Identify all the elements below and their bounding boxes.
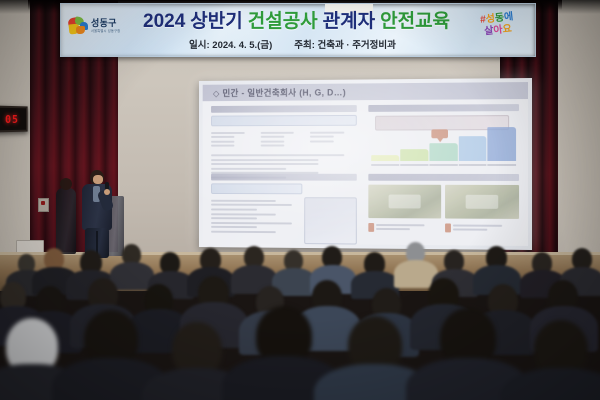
wall-outlet-plate	[38, 198, 49, 212]
chart-band-2	[429, 143, 457, 161]
chart-tick-4	[488, 164, 516, 166]
banner-host: 주최: 건축과 · 주거정비과	[294, 37, 396, 51]
chart-x-axis-ticks	[372, 162, 516, 169]
slide-body	[211, 104, 519, 239]
panel-highlight-box	[211, 115, 356, 126]
panel-column	[260, 129, 306, 150]
slide-photo-row	[369, 185, 519, 219]
hashtag-ch-6: 요	[502, 23, 512, 35]
slide-panel-bottom-left	[211, 174, 356, 245]
slide-title: ◇ 민간 - 일반건축회사 (H, G, D…)	[203, 82, 528, 101]
wall-led-clock: 05	[0, 106, 28, 133]
banner-hashtag: #성동에 살아요	[465, 10, 530, 50]
panel-header-icon	[369, 104, 519, 112]
site-photo-1	[369, 185, 442, 219]
chart-band-3	[458, 136, 486, 161]
panel-header-icon	[211, 105, 356, 113]
chart-tick-3	[458, 164, 486, 166]
photo-caption-1	[369, 221, 442, 233]
panel-column	[211, 129, 256, 149]
chart-band-1	[400, 150, 428, 161]
hashtag-ch-3: 에	[504, 11, 514, 23]
screen-surface: ◇ 민간 - 일반건축회사 (H, G, D…)	[199, 78, 532, 250]
led-clock-digits: 05	[5, 112, 19, 125]
banner-title-part-3: 관계자	[323, 12, 375, 31]
caption-marker-icon	[369, 223, 375, 232]
seminar-photo-scene: 05 성동구 서울특별시 성동구청 2024 상반기 건설공사 관계자 안전교육…	[0, 0, 600, 400]
audience	[0, 236, 600, 400]
presenter-hand	[104, 189, 110, 195]
event-banner: 성동구 서울특별시 성동구청 2024 상반기 건설공사 관계자 안전교육 일시…	[60, 3, 536, 57]
photo-caption-2	[445, 222, 519, 234]
banner-title-part-0: 2024	[143, 12, 185, 31]
slide-panel-top-left	[211, 105, 356, 181]
panel-header-icon	[211, 174, 356, 181]
banner-title-part-1: 상반기	[190, 12, 242, 31]
slide-chart	[369, 115, 519, 169]
chart-tick-2	[429, 164, 457, 166]
logo-name: 성동구	[91, 19, 120, 28]
presentation-slide: ◇ 민간 - 일반건축회사 (H, G, D…)	[203, 82, 528, 246]
banner-date: 일시: 2024. 4. 5.(금)	[189, 37, 272, 51]
panel-columns	[211, 129, 356, 150]
logo-subtitle: 서울특별시 성동구청	[91, 30, 120, 33]
banner-title-part-2: 건설공사	[248, 12, 318, 31]
chart-tick-0	[372, 164, 400, 166]
site-photo-2	[445, 185, 519, 219]
seongdong-pinwheel-logo-icon	[68, 17, 88, 35]
chart-band-0	[372, 155, 400, 161]
projection-screen: ◇ 민간 - 일반건축회사 (H, G, D…)	[199, 78, 532, 250]
banner-title: 2024 상반기 건설공사 관계자 안전교육	[143, 8, 443, 34]
slide-photo-captions	[369, 221, 519, 234]
caption-marker-icon	[445, 223, 451, 232]
chart-band-4	[488, 127, 516, 161]
banner-title-part-4: 안전교육	[380, 12, 450, 31]
presenter-face	[93, 175, 103, 184]
chart-tick-1	[400, 164, 428, 166]
slide-panel-bottom-right	[369, 174, 519, 234]
logo-text: 성동구 서울특별시 성동구청	[91, 19, 120, 33]
panel-header-icon	[369, 174, 519, 181]
chart-annotation-badge	[431, 129, 448, 138]
panel-column	[310, 129, 356, 150]
seongdong-logo: 성동구 서울특별시 성동구청	[68, 13, 140, 39]
banner-subtitle: 일시: 2024. 4. 5.(금) 주최: 건축과 · 주거정비과	[189, 37, 489, 51]
slide-panel-top-right	[369, 104, 519, 169]
